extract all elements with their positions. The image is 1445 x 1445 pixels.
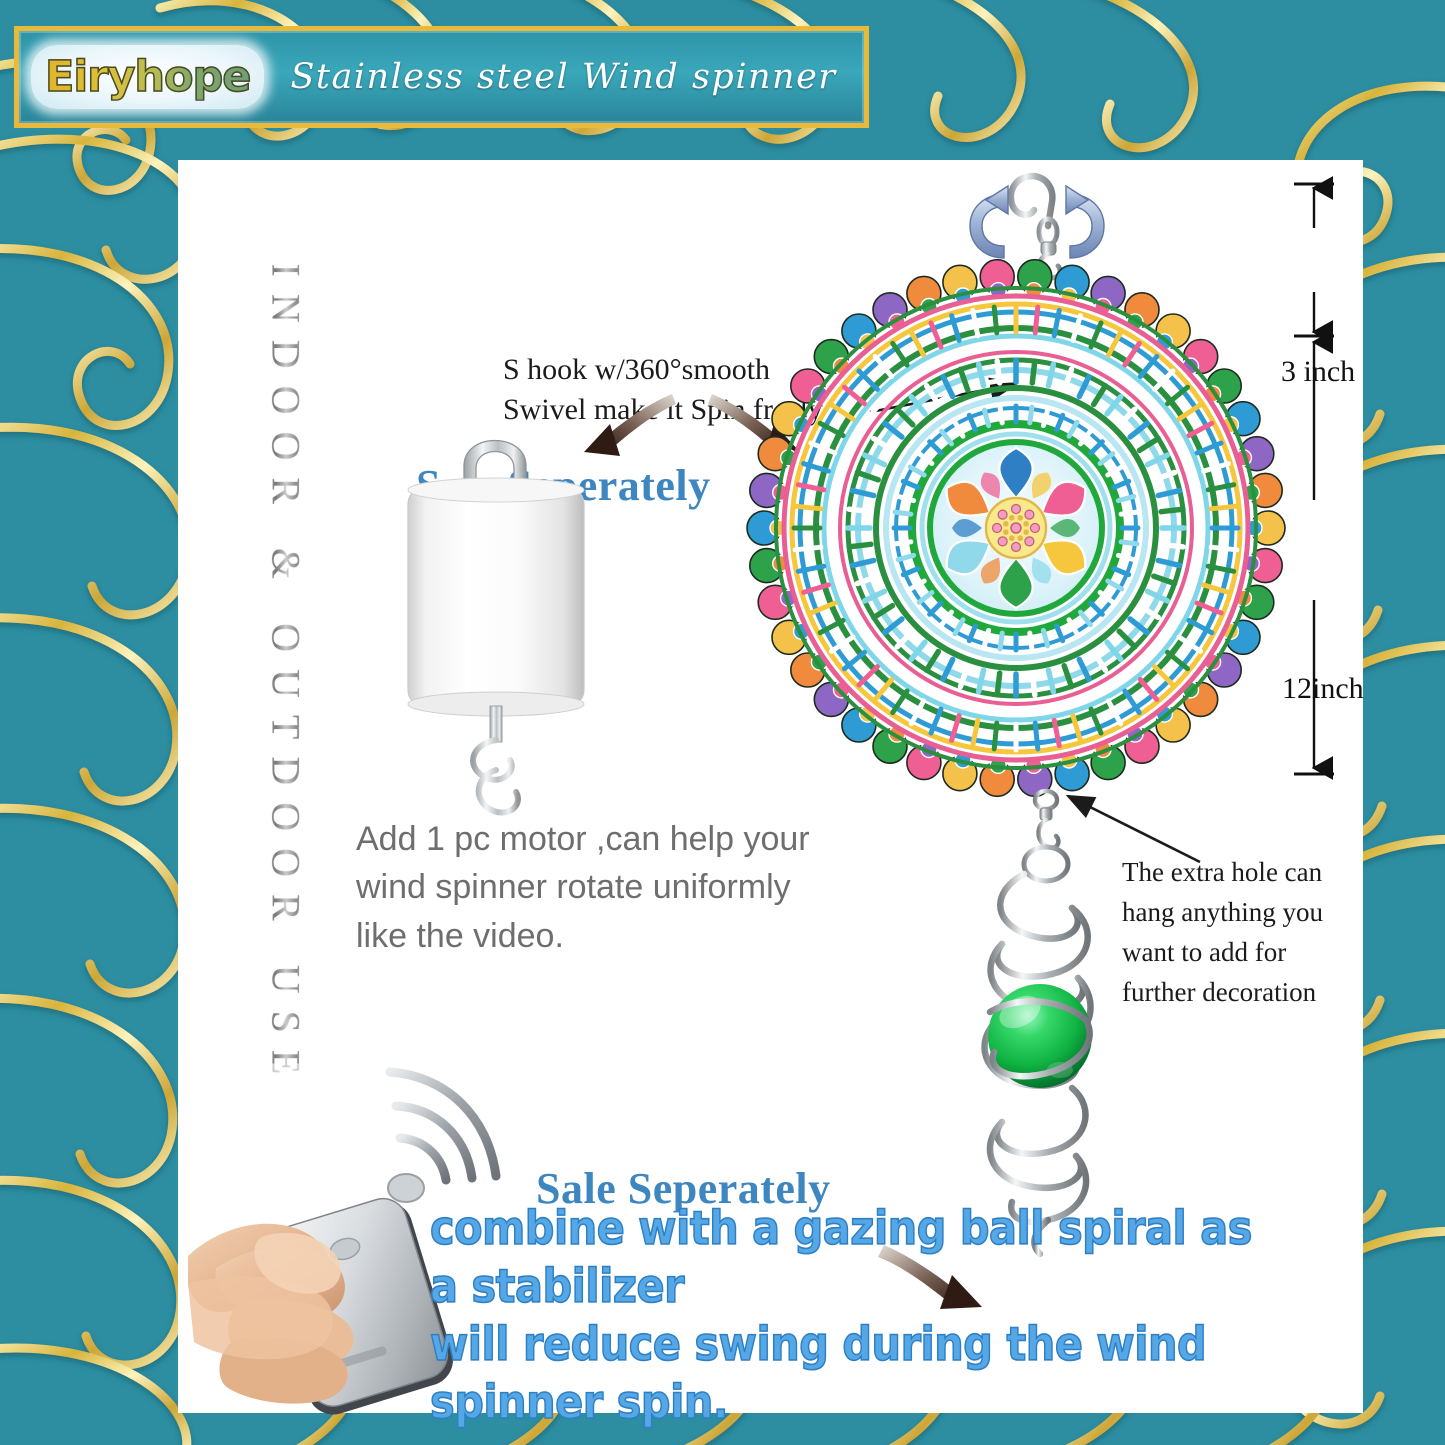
brand-name: Eiryhope <box>45 56 250 99</box>
banner-tagline: Stainless steel Wind spinner <box>290 57 836 97</box>
extra-hole-description: The extra hole can hang anything you wan… <box>1122 853 1384 1013</box>
bottom-headline-line2: will reduce swing during the wind spinne… <box>430 1316 1267 1432</box>
bottom-headline-line1: combine with a gazing ball spiral as a s… <box>430 1200 1267 1316</box>
motor-illustration <box>378 418 628 818</box>
brand-banner: Eiryhope Stainless steel Wind spinner <box>14 26 869 128</box>
dimension-label-body: 12inch <box>1282 672 1364 706</box>
hand <box>188 1224 354 1404</box>
motor-description: Add 1 pc motor ,can help your wind spinn… <box>356 815 896 960</box>
extra-hole-line3: want to add for <box>1122 933 1384 973</box>
extra-hole-line2: hang anything you <box>1122 893 1384 933</box>
extra-hole-line4: further decoration <box>1122 973 1384 1013</box>
signal-source-dot <box>388 1174 424 1202</box>
content-panel: INDOOR & OUTDOOR USE S hook w/360°smooth… <box>178 160 1363 1413</box>
rotation-arrow-right <box>1066 186 1104 258</box>
spiral-hanger-loop <box>1024 847 1068 881</box>
rotation-arrow-left <box>970 186 1008 258</box>
brand-logo: Eiryhope <box>31 45 264 109</box>
motor-description-line3: like the video. <box>356 912 896 960</box>
mandala-wind-spinner <box>756 268 1276 788</box>
spiral-top-ring <box>1035 791 1057 809</box>
dimension-label-top: 3 inch <box>1281 355 1355 389</box>
motor-body <box>408 488 584 706</box>
motor-description-line1: Add 1 pc motor ,can help your <box>356 815 896 863</box>
motor-description-line2: wind spinner rotate uniformly <box>356 863 896 911</box>
extra-hole-line1: The extra hole can <box>1122 853 1384 893</box>
signal-waves-icon <box>390 1072 496 1180</box>
motor-s-hook <box>473 740 518 813</box>
bottom-headline: combine with a gazing ball spiral as a s… <box>430 1200 1267 1432</box>
vertical-side-text: INDOOR & OUTDOOR USE <box>263 264 310 1064</box>
gazing-ball-spiral <box>968 788 1128 1258</box>
